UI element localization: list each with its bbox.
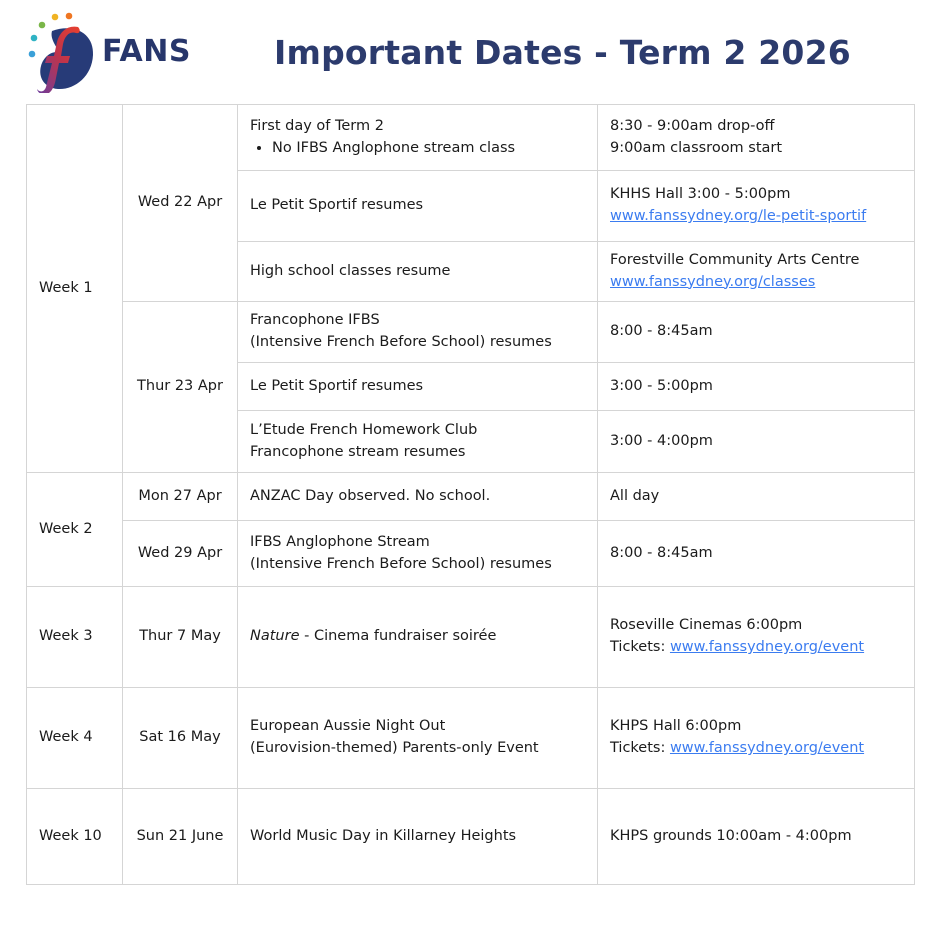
week-cell: Week 4 [27,688,123,789]
date-label: Wed 22 Apr [138,194,222,210]
date-cell: Thur 7 May [123,587,238,688]
event-line: First day of Term 2 [250,116,585,138]
detail-link[interactable]: www.fanssydney.org/event [670,740,864,756]
date-cell: Mon 27 Apr [123,473,238,521]
event-cell: Le Petit Sportif resumes [238,363,598,411]
detail-line: KHHS Hall 3:00 - 5:00pm [610,184,902,206]
detail-link-line: www.fanssydney.org/classes [610,272,902,294]
detail-line: All day [610,486,902,508]
important-dates-table-wrapper: Week 1Wed 22 AprFirst day of Term 2No IF… [26,104,914,885]
event-cell: Nature - Cinema fundraiser soirée [238,587,598,688]
detail-link-line: www.fanssydney.org/le-petit-sportif [610,206,902,228]
event-cell: ANZAC Day observed. No school. [238,473,598,521]
page-header: FANS Important Dates - Term 2 2026 [0,0,940,104]
detail-link-prefix: Tickets: [610,639,670,655]
event-line: Le Petit Sportif resumes [250,376,585,398]
fans-logo-icon [22,11,100,93]
date-cell: Sat 16 May [123,688,238,789]
detail-cell: 8:30 - 9:00am drop-off9:00am classroom s… [598,105,915,171]
important-dates-table: Week 1Wed 22 AprFirst day of Term 2No IF… [26,104,915,885]
detail-line: Forestville Community Arts Centre [610,250,902,272]
event-line: (Intensive French Before School) resumes [250,554,585,576]
detail-cell: 8:00 - 8:45am [598,521,915,587]
detail-line: 9:00am classroom start [610,138,902,160]
event-cell: European Aussie Night Out(Eurovision-the… [238,688,598,789]
detail-cell: Roseville Cinemas 6:00pmTickets: www.fan… [598,587,915,688]
detail-line: 3:00 - 4:00pm [610,431,902,453]
event-line: World Music Day in Killarney Heights [250,826,585,848]
event-line: Francophone stream resumes [250,442,585,464]
detail-cell: All day [598,473,915,521]
detail-cell: Forestville Community Arts Centrewww.fan… [598,242,915,302]
date-label: Wed 29 Apr [138,545,222,561]
event-cell: High school classes resume [238,242,598,302]
week-cell: Week 2 [27,473,123,587]
event-cell: Le Petit Sportif resumes [238,171,598,242]
event-line: High school classes resume [250,261,585,283]
detail-link-prefix: Tickets: [610,740,670,756]
table-row: Week 4Sat 16 MayEuropean Aussie Night Ou… [27,688,915,789]
event-bullet-item: No IFBS Anglophone stream class [272,138,585,160]
detail-cell: KHHS Hall 3:00 - 5:00pmwww.fanssydney.or… [598,171,915,242]
date-label: Thur 7 May [139,628,221,644]
table-row: Week 2Mon 27 AprANZAC Day observed. No s… [27,473,915,521]
date-cell: Sun 21 June [123,789,238,885]
fans-logo: FANS [22,11,222,93]
date-cell: Wed 22 Apr [123,105,238,302]
detail-link-line: Tickets: www.fanssydney.org/event [610,738,902,760]
date-cell: Wed 29 Apr [123,521,238,587]
week-label: Week 2 [39,521,93,537]
detail-line: 8:30 - 9:00am drop-off [610,116,902,138]
detail-cell: KHPS Hall 6:00pmTickets: www.fanssydney.… [598,688,915,789]
week-cell: Week 1 [27,105,123,473]
week-cell: Week 3 [27,587,123,688]
event-cell: Francophone IFBS(Intensive French Before… [238,302,598,363]
detail-cell: 3:00 - 4:00pm [598,411,915,473]
detail-line: 8:00 - 8:45am [610,543,902,565]
event-cell: L’Etude French Homework ClubFrancophone … [238,411,598,473]
week-label: Week 4 [39,729,93,745]
event-line: ANZAC Day observed. No school. [250,486,585,508]
detail-link[interactable]: www.fanssydney.org/classes [610,274,815,290]
date-label: Thur 23 Apr [137,378,223,394]
table-row: Wed 29 AprIFBS Anglophone Stream(Intensi… [27,521,915,587]
week-label: Week 1 [39,280,93,296]
detail-cell: KHPS grounds 10:00am - 4:00pm [598,789,915,885]
event-line: IFBS Anglophone Stream [250,532,585,554]
date-label: Sun 21 June [137,828,224,844]
event-cell: World Music Day in Killarney Heights [238,789,598,885]
table-row: Thur 23 AprFrancophone IFBS(Intensive Fr… [27,302,915,363]
table-row: Week 3Thur 7 MayNature - Cinema fundrais… [27,587,915,688]
detail-line: 8:00 - 8:45am [610,321,902,343]
week-cell: Week 10 [27,789,123,885]
detail-line: KHPS grounds 10:00am - 4:00pm [610,826,902,848]
event-line: (Eurovision-themed) Parents-only Event [250,738,585,760]
event-bullet-list: No IFBS Anglophone stream class [250,138,585,160]
event-line: European Aussie Night Out [250,716,585,738]
detail-link[interactable]: www.fanssydney.org/event [670,639,864,655]
detail-cell: 3:00 - 5:00pm [598,363,915,411]
event-cell: IFBS Anglophone Stream(Intensive French … [238,521,598,587]
table-row: Week 10Sun 21 JuneWorld Music Day in Kil… [27,789,915,885]
detail-link-line: Tickets: www.fanssydney.org/event [610,637,902,659]
table-row: Week 1Wed 22 AprFirst day of Term 2No IF… [27,105,915,171]
detail-line: KHPS Hall 6:00pm [610,716,902,738]
date-label: Sat 16 May [139,729,220,745]
week-label: Week 3 [39,628,93,644]
detail-link[interactable]: www.fanssydney.org/le-petit-sportif [610,208,866,224]
event-line: Nature - Cinema fundraiser soirée [250,626,585,648]
week-label: Week 10 [39,828,102,844]
event-line: L’Etude French Homework Club [250,420,585,442]
date-label: Mon 27 Apr [138,488,221,504]
date-cell: Thur 23 Apr [123,302,238,473]
event-line: (Intensive French Before School) resumes [250,332,585,354]
event-line: Le Petit Sportif resumes [250,195,585,217]
detail-cell: 8:00 - 8:45am [598,302,915,363]
detail-line: Roseville Cinemas 6:00pm [610,615,902,637]
event-title-italic: Nature [250,628,300,644]
event-line: Francophone IFBS [250,310,585,332]
event-line-text: - Cinema fundraiser soirée [300,628,497,644]
event-cell: First day of Term 2No IFBS Anglophone st… [238,105,598,171]
detail-line: 3:00 - 5:00pm [610,376,902,398]
fans-logo-wordmark: FANS [102,37,191,67]
table-body: Week 1Wed 22 AprFirst day of Term 2No IF… [27,105,915,885]
page-title: Important Dates - Term 2 2026 [274,33,851,72]
